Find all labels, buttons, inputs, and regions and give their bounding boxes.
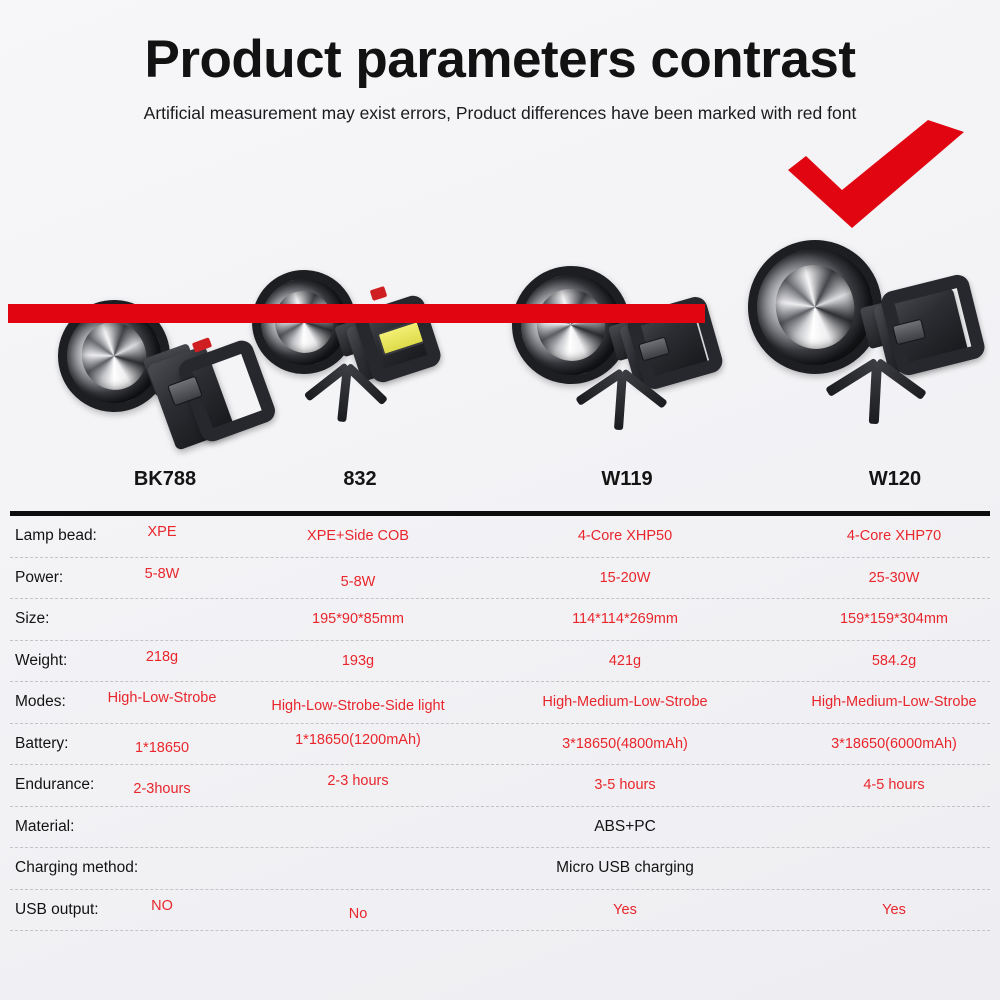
cell-w120: 159*159*304mm [840, 611, 948, 627]
cell-bk788: XPE [147, 524, 176, 540]
cell-bk788: NO [151, 898, 173, 914]
cell-w119: Yes [613, 902, 637, 918]
table-row: Material: ABS+PC [10, 807, 990, 849]
row-label: Lamp bead: [15, 527, 97, 545]
cell-w120: 3*18650(6000mAh) [831, 736, 957, 752]
cell-832: High-Low-Strobe-Side light [271, 698, 444, 714]
cell-material-shared: ABS+PC [594, 818, 656, 836]
row-label: Endurance: [15, 776, 94, 794]
check-icon [786, 118, 966, 230]
table-row: Size: 195*90*85mm 114*114*269mm 159*159*… [10, 599, 990, 641]
cell-w120: 4-5 hours [863, 777, 924, 793]
table-row: USB output: NO No Yes Yes [10, 890, 990, 932]
cell-w120: Yes [882, 902, 906, 918]
product-name-w120: W120 [869, 468, 921, 491]
row-label: Power: [15, 569, 63, 587]
cell-832: 195*90*85mm [312, 611, 404, 627]
table-row: Charging method: Micro USB charging [10, 848, 990, 890]
row-label: Modes: [15, 693, 66, 711]
table-row: Weight: 218g 193g 421g 584.2g [10, 641, 990, 683]
cell-bk788: 2-3hours [133, 781, 190, 797]
table-row: Modes: High-Low-Strobe High-Low-Strobe-S… [10, 682, 990, 724]
row-label: Battery: [15, 735, 68, 753]
row-label: USB output: [15, 901, 99, 919]
cell-832: 1*18650(1200mAh) [295, 732, 421, 748]
product-name-w119: W119 [601, 468, 652, 491]
table-row: Power: 5-8W 5-8W 15-20W 25-30W [10, 558, 990, 600]
table-row: Endurance: 2-3hours 2-3 hours 3-5 hours … [10, 765, 990, 807]
cell-bk788: 5-8W [145, 566, 180, 582]
cell-bk788: 218g [146, 649, 178, 665]
cell-w119: 421g [609, 653, 641, 669]
cell-832: 2-3 hours [327, 773, 388, 789]
row-label: Charging method: [15, 859, 138, 877]
product-name-row: BK788 832 W119 W120 [0, 468, 1000, 506]
red-check-mark [786, 118, 966, 230]
product-name-bk788: BK788 [134, 468, 196, 491]
cell-832: 193g [342, 653, 374, 669]
row-label: Weight: [15, 652, 67, 670]
product-name-832: 832 [343, 468, 376, 491]
table-row: Lamp bead: XPE XPE+Side COB 4-Core XHP50… [10, 516, 990, 558]
cell-bk788: High-Low-Strobe [108, 690, 217, 706]
cell-w120: 584.2g [872, 653, 916, 669]
cell-bk788: 1*18650 [135, 740, 189, 756]
cell-w119: High-Medium-Low-Strobe [542, 694, 707, 710]
cell-832: 5-8W [341, 574, 376, 590]
power-button-icon [370, 286, 388, 301]
red-strike-line [8, 304, 705, 323]
cell-w119: 3-5 hours [594, 777, 655, 793]
cell-w120: 4-Core XHP70 [847, 528, 941, 544]
row-label: Material: [15, 818, 74, 836]
table-row: Battery: 1*18650 1*18650(1200mAh) 3*1865… [10, 724, 990, 766]
row-label: Size: [15, 610, 49, 628]
cell-w119: 114*114*269mm [572, 611, 678, 627]
cell-w120: High-Medium-Low-Strobe [811, 694, 976, 710]
cell-832: XPE+Side COB [307, 528, 409, 544]
page-title: Product parameters contrast [0, 0, 1000, 86]
cell-w119: 15-20W [600, 570, 651, 586]
cell-charging-shared: Micro USB charging [556, 859, 694, 877]
cell-w119: 4-Core XHP50 [578, 528, 672, 544]
cell-w120: 25-30W [869, 570, 920, 586]
cell-832: No [349, 906, 368, 922]
cell-w119: 3*18650(4800mAh) [562, 736, 688, 752]
spec-table: Lamp bead: XPE XPE+Side COB 4-Core XHP50… [10, 511, 990, 931]
page-header: Product parameters contrast Artificial m… [0, 0, 1000, 128]
